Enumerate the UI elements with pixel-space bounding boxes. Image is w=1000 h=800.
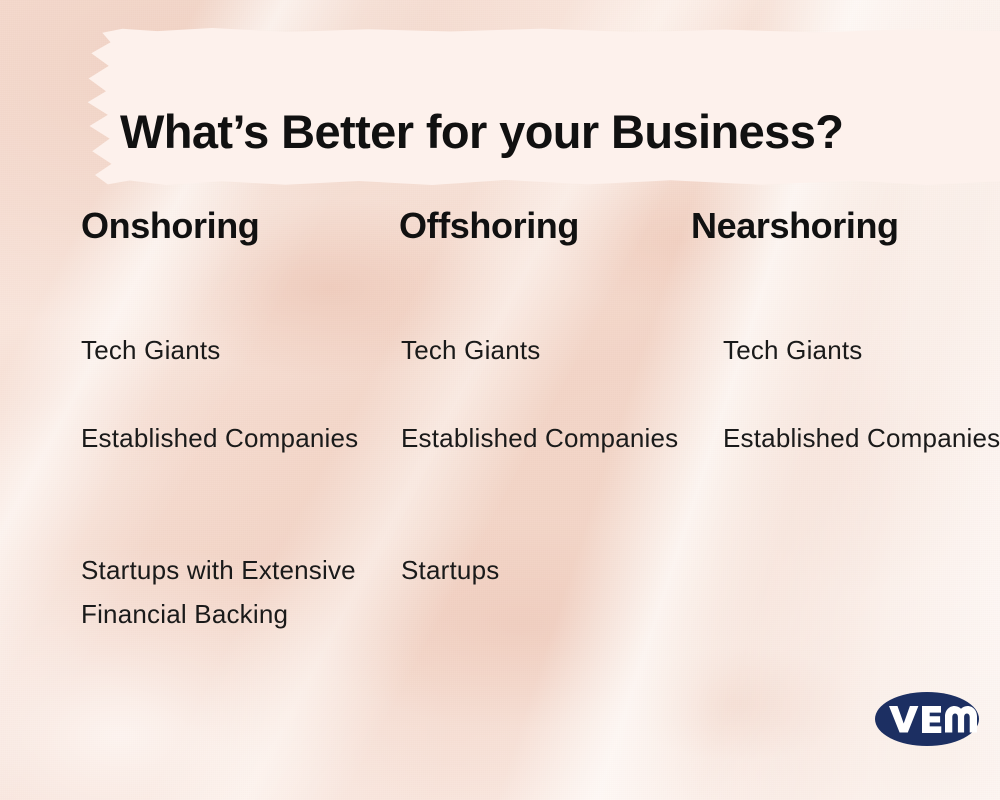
column-onshoring: Onshoring Tech Giants Established Compan… (81, 206, 381, 246)
list-item: Established Companies (401, 416, 701, 460)
list-item: Tech Giants (723, 328, 1000, 372)
list-item: Startups (401, 548, 701, 592)
list-item: Established Companies (723, 416, 1000, 460)
vem-logo-icon (874, 688, 980, 750)
column-offshoring: Offshoring Tech Giants Established Compa… (399, 206, 699, 246)
list-item: Tech Giants (81, 328, 381, 372)
page-title: What’s Better for your Business? (120, 105, 843, 159)
column-nearshoring: Nearshoring Tech Giants Established Comp… (691, 206, 991, 246)
column-heading-offshoring: Offshoring (399, 206, 699, 246)
slide-canvas: What’s Better for your Business? Onshori… (0, 0, 1000, 800)
column-heading-onshoring: Onshoring (81, 206, 381, 246)
list-item: Tech Giants (401, 328, 701, 372)
vem-logo (874, 688, 980, 750)
list-item: Startups with Extensive Financial Backin… (81, 548, 381, 636)
column-heading-nearshoring: Nearshoring (691, 206, 991, 246)
list-item: Established Companies (81, 416, 381, 460)
